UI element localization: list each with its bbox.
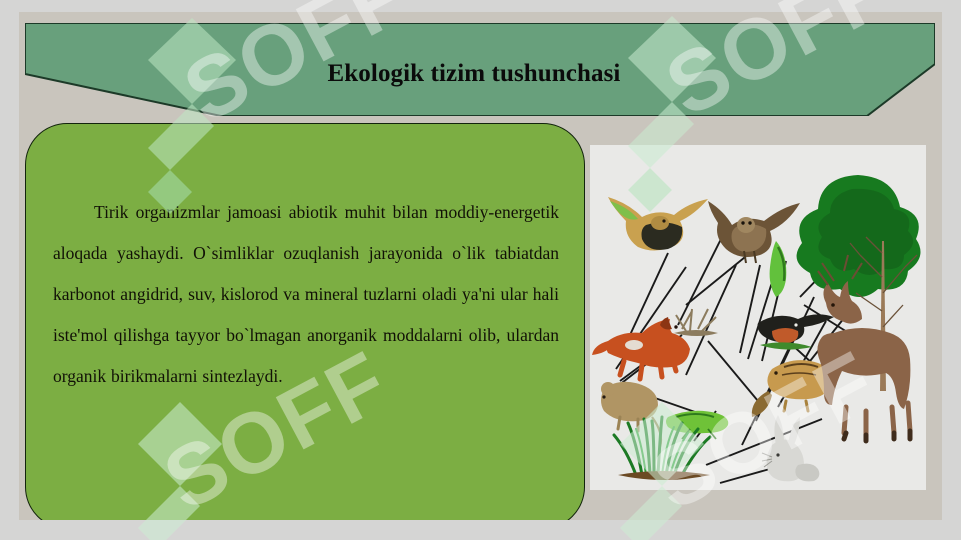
food-web-svg	[590, 145, 926, 490]
food-web-illustration	[590, 145, 926, 490]
page-title: Ekologik tizim tushunchasi	[19, 60, 929, 88]
body-text-card: Tirik organizmlar jamoasi abiotik muhit …	[25, 123, 585, 520]
slide-panel: Ekologik tizim tushunchasi Tirik organiz…	[19, 12, 942, 520]
slide-stage: Ekologik tizim tushunchasi Tirik organiz…	[0, 0, 961, 540]
body-paragraph: Tirik organizmlar jamoasi abiotik muhit …	[53, 192, 559, 397]
